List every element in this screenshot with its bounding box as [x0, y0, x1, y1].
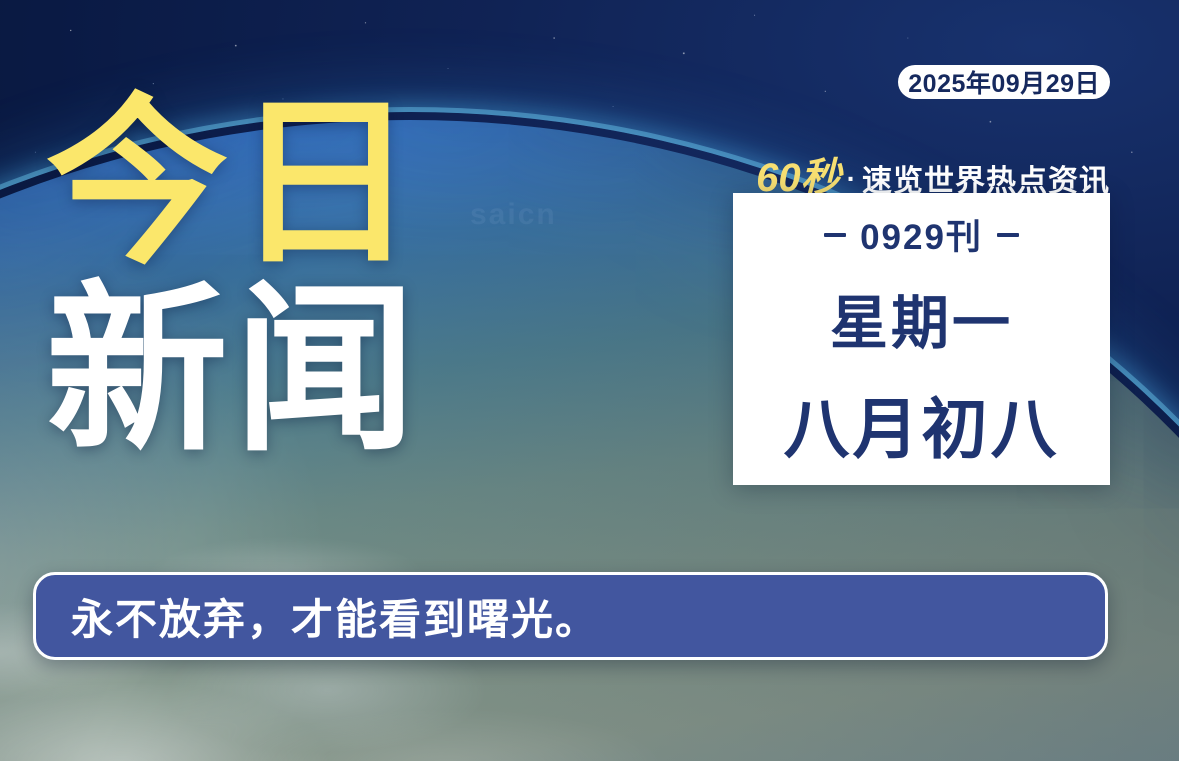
title-line-news: 新闻 [46, 283, 422, 458]
issue-dash-right-icon [997, 233, 1019, 237]
quote-banner: 永不放弃，才能看到曙光。 [33, 572, 1108, 660]
info-card: 0929刊 星期一 八月初八 [733, 193, 1110, 485]
issue-number: 0929刊 [860, 209, 983, 260]
page-title: 今日 新闻 [46, 96, 422, 457]
lunar-date-label: 八月初八 [784, 376, 1060, 472]
weekday-label: 星期一 [830, 276, 1013, 360]
date-badge: 2025年09月29日 [898, 65, 1110, 99]
news-poster: saicn 今日 新闻 2025年09月29日 60秒 · 速览世界热点资讯 0… [0, 0, 1179, 761]
issue-dash-left-icon [824, 233, 846, 237]
issue-line: 0929刊 [824, 209, 1019, 260]
tagline-separator-dot: · [847, 163, 856, 195]
quote-text: 永不放弃，才能看到曙光。 [71, 586, 599, 647]
title-line-today: 今日 [46, 96, 422, 271]
